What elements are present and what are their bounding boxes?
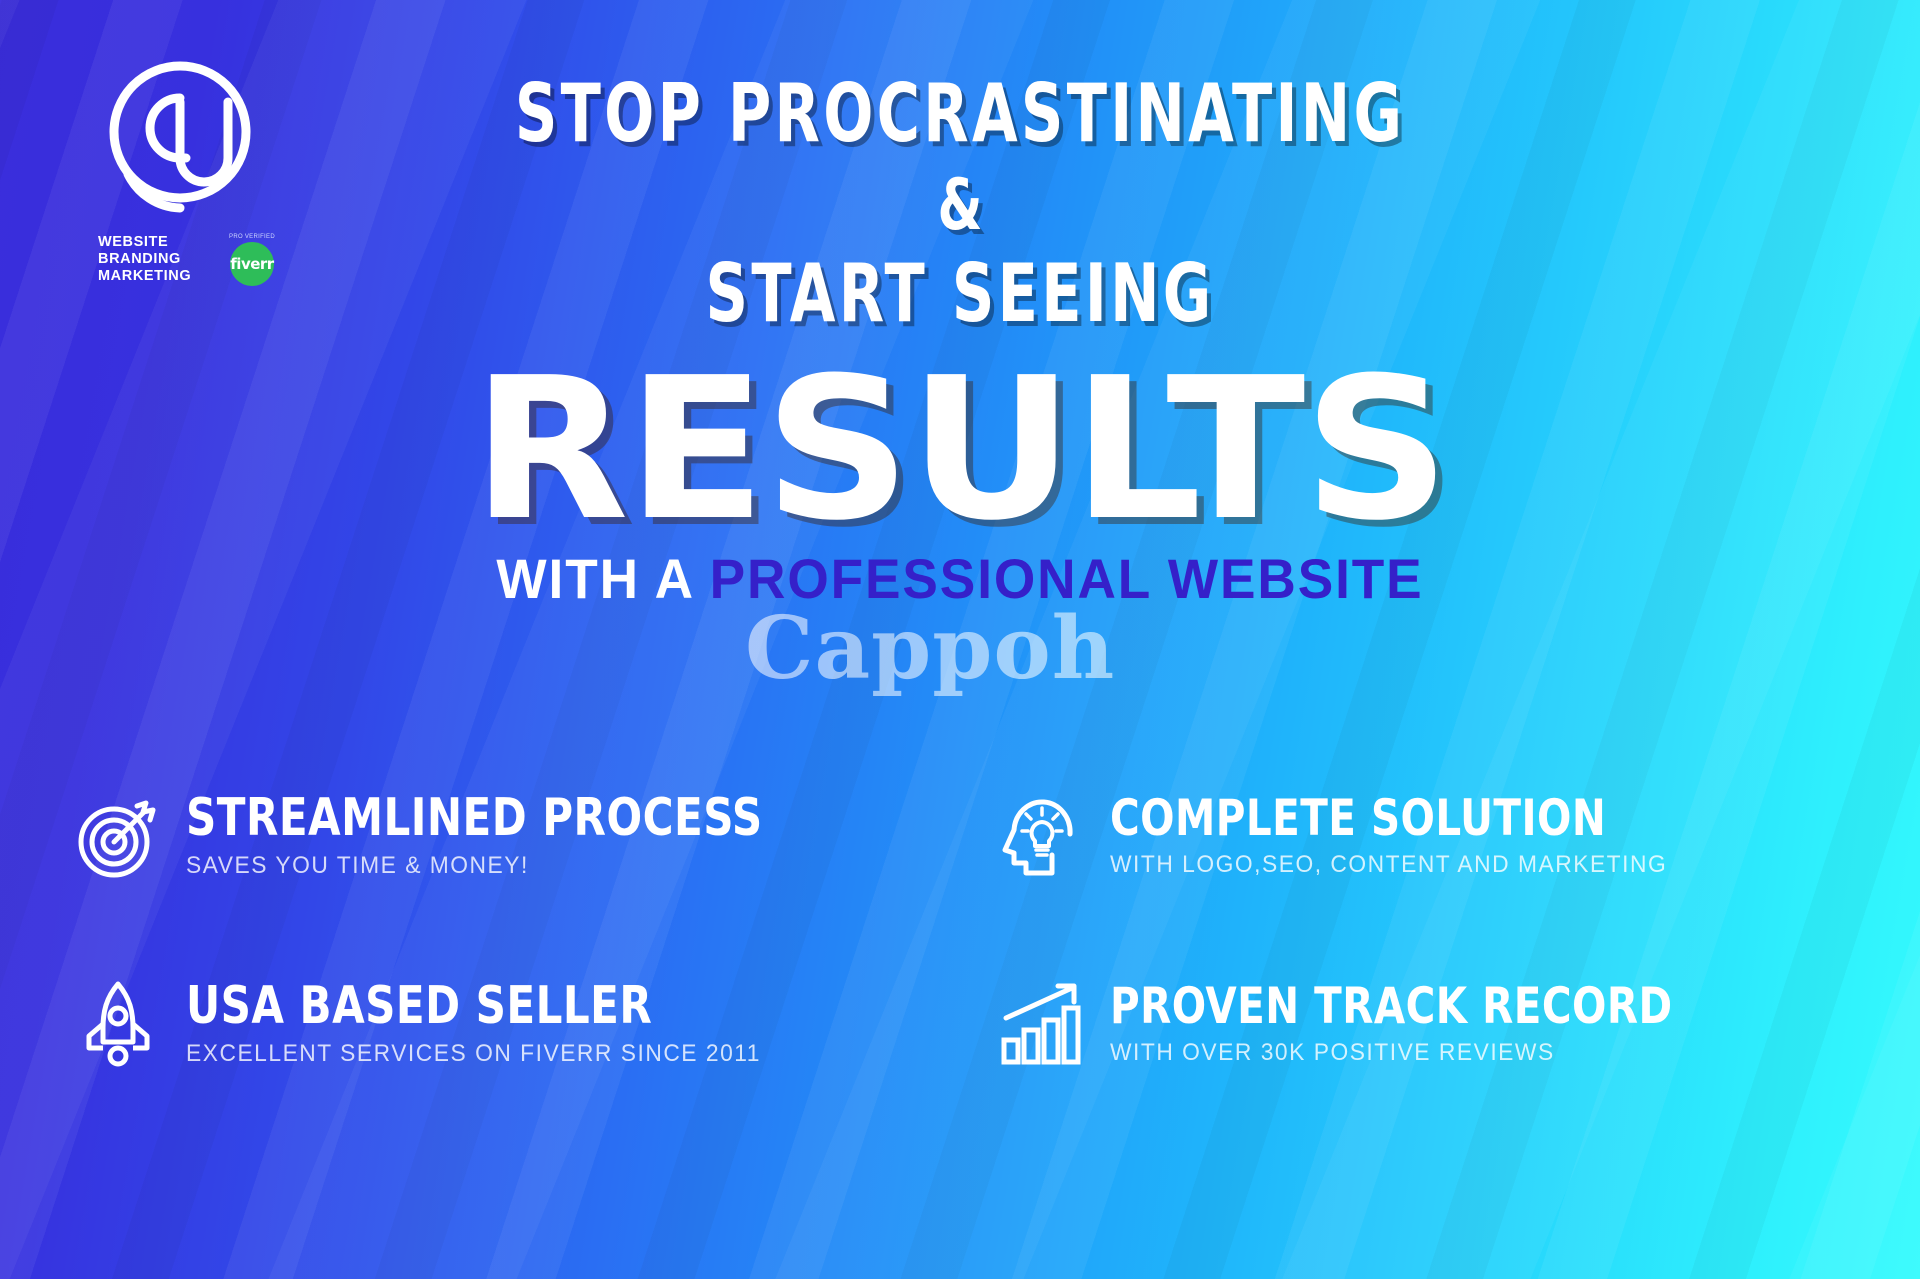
promo-banner: WEBSITE BRANDING MARKETING PRO VERIFIED … xyxy=(0,0,1920,1279)
feature-subtitle: EXCELLENT SERVICES ON FIVERR SINCE 2011 xyxy=(186,1040,761,1068)
headline-hero-word: RESULTS xyxy=(0,360,1920,540)
feature-complete-solution: COMPLETE SOLUTION WITH LOGO,SEO, CONTENT… xyxy=(996,790,1860,882)
headline-subline-accent: PROFESSIONAL WEBSITE xyxy=(710,547,1424,610)
feature-streamlined-process: STREAMLINED PROCESS SAVES YOU TIME & MON… xyxy=(72,790,936,882)
feature-subtitle: SAVES YOU TIME & MONEY! xyxy=(186,852,795,880)
feature-subtitle: WITH OVER 30K POSITIVE REVIEWS xyxy=(1110,1039,1704,1067)
headline-line-1: STOP PROCRASTINATING xyxy=(173,74,1747,154)
feature-title: USA BASED SELLER xyxy=(186,980,731,1032)
feature-usa-based-seller: USA BASED SELLER EXCELLENT SERVICES ON F… xyxy=(72,978,936,1070)
feature-text: STREAMLINED PROCESS SAVES YOU TIME & MON… xyxy=(186,792,827,880)
headline-subline-prefix: WITH A xyxy=(496,547,709,610)
feature-text: USA BASED SELLER EXCELLENT SERVICES ON F… xyxy=(186,980,791,1068)
feature-proven-track-record: PROVEN TRACK RECORD WITH OVER 30K POSITI… xyxy=(996,978,1860,1070)
feature-title: STREAMLINED PROCESS xyxy=(186,792,763,844)
feature-subtitle: WITH LOGO,SEO, CONTENT AND MARKETING xyxy=(1110,851,1667,879)
feature-text: COMPLETE SOLUTION WITH LOGO,SEO, CONTENT… xyxy=(1110,793,1697,879)
headline-line-3: START SEEING xyxy=(173,254,1747,334)
headline-ampersand: & xyxy=(173,170,1747,240)
watermark-text: Cappoh xyxy=(745,598,1115,699)
feature-grid: STREAMLINED PROCESS SAVES YOU TIME & MON… xyxy=(72,790,1860,1070)
headline-subline: WITH A PROFESSIONAL WEBSITE xyxy=(48,546,1872,611)
growth-bar-chart-icon xyxy=(996,978,1088,1070)
headline-block: STOP PROCRASTINATING & START SEEING RESU… xyxy=(0,74,1920,611)
feature-text: PROVEN TRACK RECORD WITH OVER 30K POSITI… xyxy=(1110,981,1735,1067)
feature-title: PROVEN TRACK RECORD xyxy=(1110,981,1673,1031)
head-lightbulb-icon xyxy=(996,790,1088,882)
target-dartboard-icon xyxy=(72,790,164,882)
rocket-icon xyxy=(72,978,164,1070)
feature-title: COMPLETE SOLUTION xyxy=(1110,793,1638,843)
